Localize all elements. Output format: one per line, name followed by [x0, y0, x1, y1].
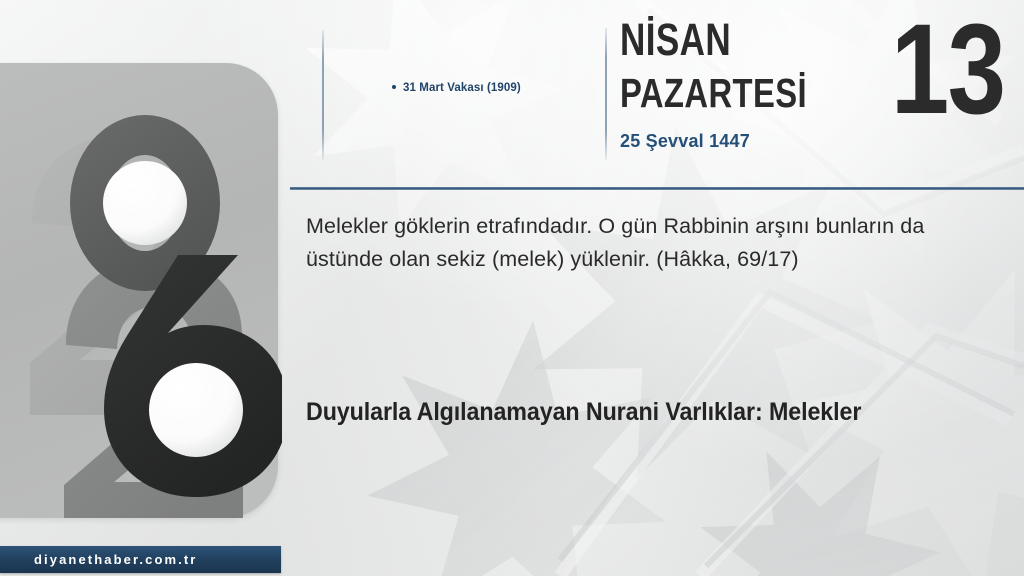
hijri-date-label: 25 Şevval 1447 [620, 131, 750, 152]
historical-event-note: 31 Mart Vakası (1909) [392, 82, 521, 94]
month-label: NİSAN [620, 17, 731, 62]
historical-event-text: 31 Mart Vakası (1909) [403, 82, 521, 94]
site-url-bar: diyanethaber.com.tr [0, 546, 281, 573]
header-divider-left [322, 30, 324, 160]
calendar-page: 31 Mart Vakası (1909) NİSAN PAZARTESİ 25… [0, 0, 1024, 576]
site-url-text: diyanethaber.com.tr [34, 552, 197, 567]
header-divider-right [605, 28, 607, 160]
verse-text: Melekler göklerin etrafındadır. O gün Ra… [306, 210, 926, 276]
logo-2026 [0, 63, 282, 518]
topic-title: Duyularla Algılanamayan Nurani Varlıklar… [306, 388, 901, 437]
bullet-icon [392, 85, 396, 89]
day-number: 13 [891, 6, 1004, 134]
logo-2026-graphic [0, 63, 282, 518]
weekday-label: PAZARTESİ [620, 73, 807, 114]
header-horizontal-rule [290, 187, 1024, 190]
